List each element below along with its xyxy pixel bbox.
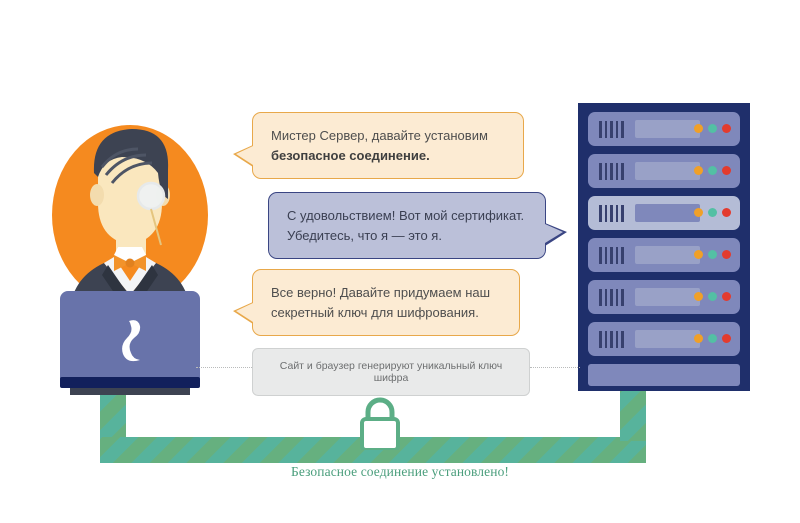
bubble-tail-inner-icon [545,224,563,243]
server-panel [635,288,700,306]
server-leds [694,250,731,259]
browser-character-illustration [30,95,235,395]
server-unit [588,322,740,356]
footer-caption: Безопасное соединение установлено! [0,464,800,480]
server-rack [578,103,750,391]
bubble-tail-inner-icon [236,303,253,322]
server-unit [588,238,740,272]
bubble-line: С удовольствием! Вот мой сертификат. [287,206,527,226]
server-panel [635,330,700,348]
server-panel [635,120,700,138]
infographic-canvas: Мистер Сервер, давайте установим безопас… [0,0,800,523]
speech-bubble-browser-secret-key: Все верно! Давайте придумаем наш секретн… [252,269,520,336]
server-panel [635,162,700,180]
server-vents-icon [599,163,624,180]
padlock-icon [355,396,405,450]
server-panel [635,246,700,264]
server-vents-icon [599,121,624,138]
connector-line-left [196,367,254,368]
laptop-base [60,377,200,388]
bubble-line: Убедитесь, что я — это я. [287,226,527,246]
server-leds [694,334,731,343]
server-leds [694,124,731,133]
connection-band-right-riser [620,386,646,441]
server-blank-panel [588,364,740,386]
bubble-line: Все верно! Давайте придумаем наш [271,283,501,303]
connection-band-left-riser [100,393,126,441]
server-panel [635,204,700,222]
info-box-text: Сайт и браузер генерируют уникальный клю… [280,360,502,384]
bubble-line-bold: безопасное соединение. [271,146,505,166]
bubble-tail-inner-icon [236,146,253,165]
server-unit [588,154,740,188]
speech-bubble-browser-hello: Мистер Сервер, давайте установим безопас… [252,112,524,179]
server-leds [694,166,731,175]
speech-bubble-server-certificate: С удовольствием! Вот мой сертификат. Убе… [268,192,546,259]
server-leds [694,292,731,301]
server-unit [588,280,740,314]
connector-line-right [530,367,580,368]
bubble-line: Мистер Сервер, давайте установим [271,126,505,146]
bubble-line: секретный ключ для шифрования. [271,303,501,323]
server-unit [588,112,740,146]
server-vents-icon [599,205,624,222]
server-vents-icon [599,247,624,264]
server-vents-icon [599,331,624,348]
key-generation-info-box: Сайт и браузер генерируют уникальный клю… [252,348,530,396]
server-vents-icon [599,289,624,306]
server-unit [588,196,740,230]
server-leds [694,208,731,217]
